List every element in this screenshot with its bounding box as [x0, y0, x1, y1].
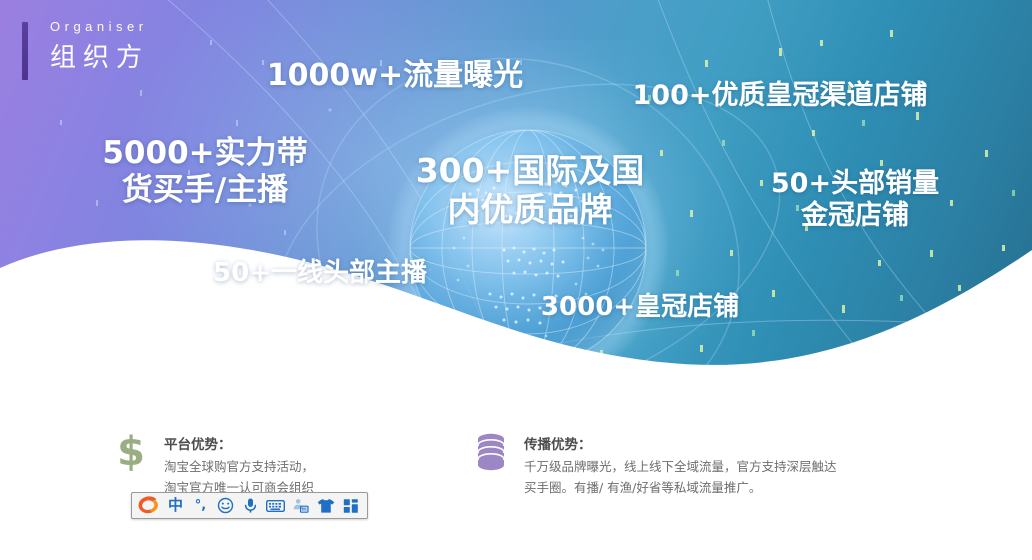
skin-theme-icon[interactable]: [314, 494, 337, 517]
digital-globe-icon: [378, 98, 678, 398]
toolbox-icon[interactable]: [339, 494, 362, 517]
stat-buyers-anchors: 5000+实力带 货买手/主播: [70, 135, 340, 208]
slide-canvas: Organiser 组织方 1000w+流量曝光 100+优质皇冠渠道店铺 50…: [0, 0, 1032, 560]
sogou-logo-icon[interactable]: [134, 494, 162, 518]
stat-gold-crown-shops: 50+头部销量 金冠店铺: [735, 168, 975, 232]
header-eyebrow-label: Organiser: [50, 18, 149, 36]
advantage-spread-line-2: 买手圈。有播/ 有渔/好省等私域流量推广。: [524, 477, 837, 498]
organiser-header: Organiser 组织方: [22, 18, 149, 80]
emoji-icon[interactable]: [214, 494, 237, 517]
screenshot-icon[interactable]: [289, 494, 312, 517]
database-stack-icon: [472, 430, 510, 474]
advantage-platform-line-1: 淘宝全球购官方支持活动，: [164, 456, 314, 477]
page-title: 组织方: [50, 40, 149, 76]
soft-keyboard-icon[interactable]: [264, 494, 287, 517]
stat-crown-shops: 3000+皇冠店铺: [515, 292, 765, 323]
input-mode-chinese-icon[interactable]: 中: [164, 494, 187, 517]
punctuation-mode-icon[interactable]: °,: [189, 494, 212, 517]
dollar-sign-icon: $: [112, 430, 150, 474]
header-accent-bar: [22, 22, 28, 80]
voice-input-icon[interactable]: [239, 494, 262, 517]
stat-traffic-exposure: 1000w+流量曝光: [250, 58, 540, 93]
stat-crown-channel-shops: 100+优质皇冠渠道店铺: [600, 80, 960, 112]
advantage-platform: $ 平台优势： 淘宝全球购官方支持活动， 淘宝官方唯一认可商会组织: [112, 430, 442, 498]
advantage-platform-title: 平台优势：: [164, 434, 314, 456]
hero-banner: Organiser 组织方 1000w+流量曝光 100+优质皇冠渠道店铺 50…: [0, 0, 1032, 400]
advantage-spread: 传播优势： 千万级品牌曝光，线上线下全域流量，官方支持深层触达 买手圈。有播/ …: [472, 430, 902, 498]
stat-frontline-anchors: 50+一线头部主播: [195, 258, 445, 289]
stat-quality-brands: 300+国际及国 内优质品牌: [395, 152, 665, 230]
svg-text:$: $: [117, 430, 145, 474]
advantage-spread-line-1: 千万级品牌曝光，线上线下全域流量，官方支持深层触达: [524, 456, 837, 477]
sogou-input-method-toolbar[interactable]: 中 °,: [131, 492, 368, 519]
advantage-spread-title: 传播优势：: [524, 434, 837, 456]
